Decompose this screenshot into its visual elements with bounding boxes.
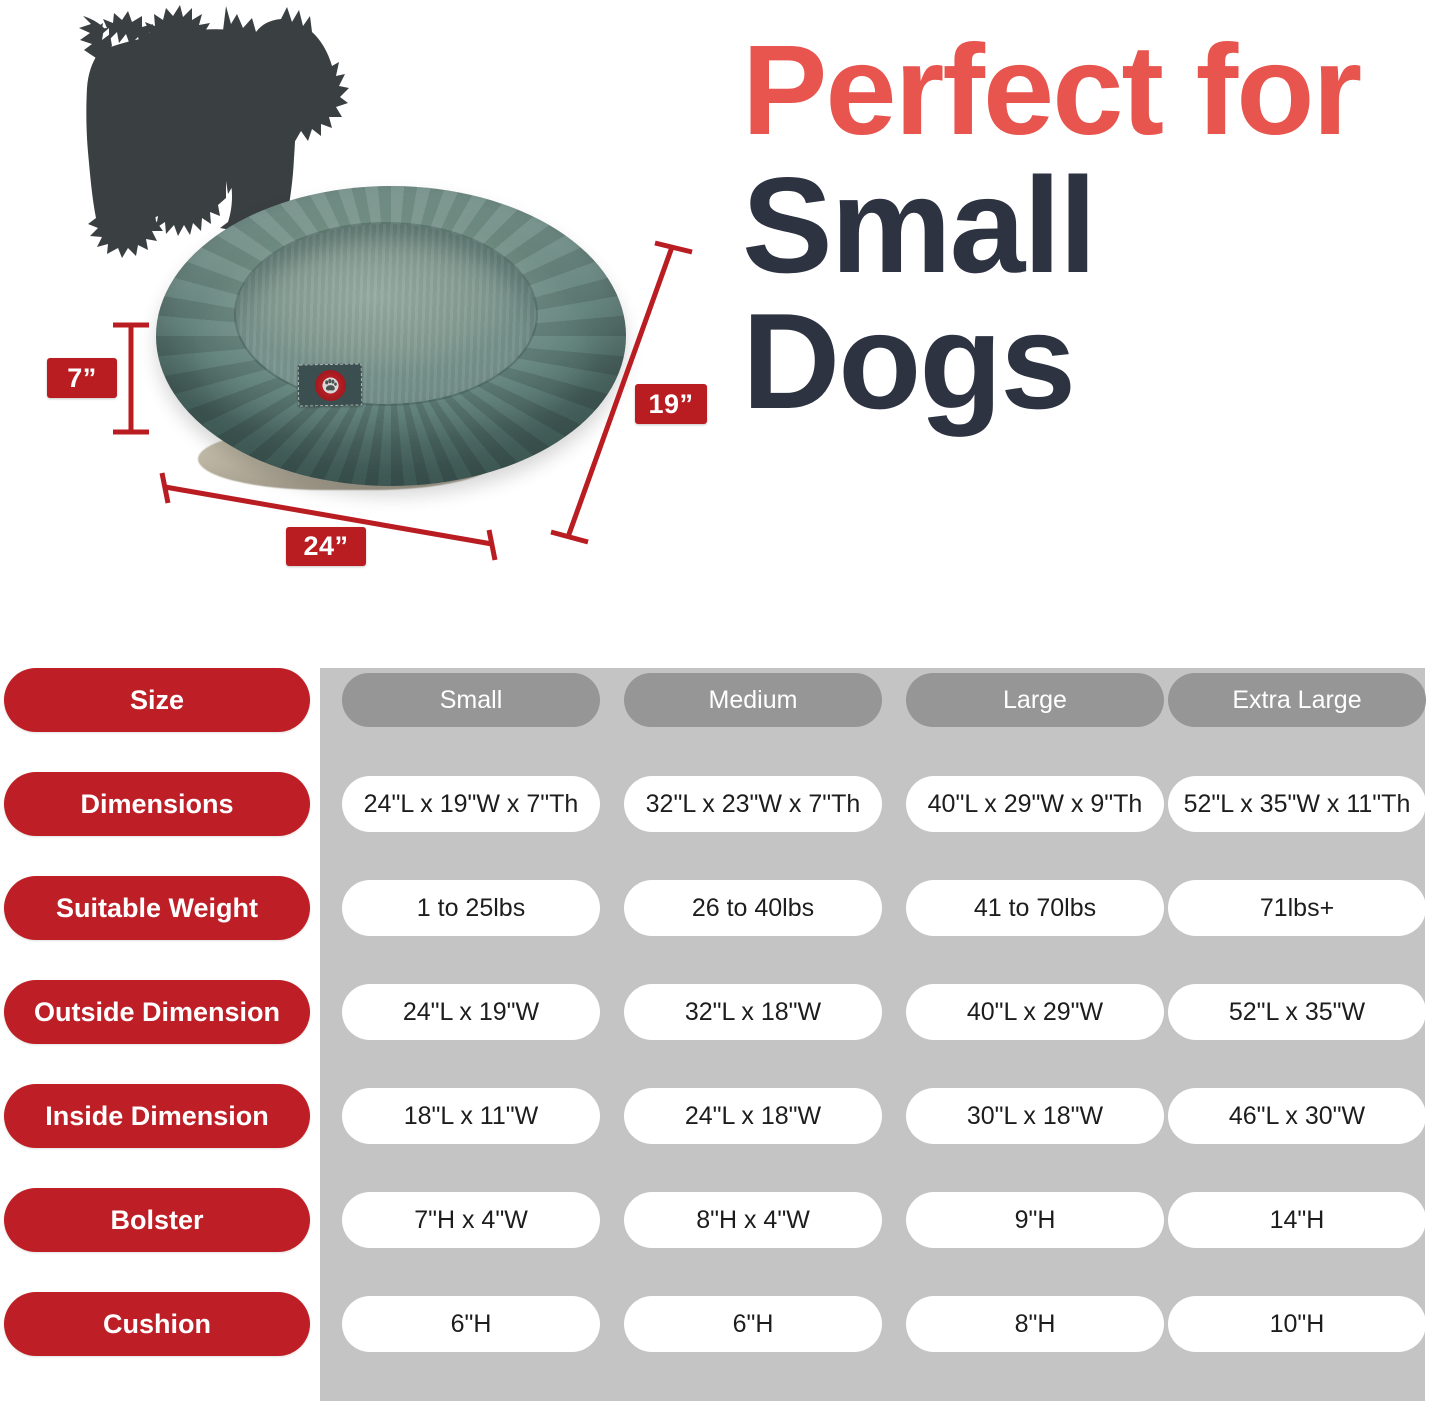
- headline-line-3: Dogs: [742, 295, 1442, 428]
- cell-outside-dimension-large: 40"L x 29"W: [906, 984, 1164, 1040]
- cell-dimensions-medium: 32"L x 23"W x 7"Th: [624, 776, 882, 832]
- row-label-inside-dimension: Inside Dimension: [4, 1084, 310, 1148]
- cell-bolster-small: 7"H x 4"W: [342, 1192, 600, 1248]
- cell-dimensions-small: 24"L x 19"W x 7"Th: [342, 776, 600, 832]
- cell-cushion-medium: 6"H: [624, 1296, 882, 1352]
- cell-cushion-extra-large: 10"H: [1168, 1296, 1426, 1352]
- cell-inside-dimension-large: 30"L x 18"W: [906, 1088, 1164, 1144]
- row-label-bolster: Bolster: [4, 1188, 310, 1252]
- cell-outside-dimension-medium: 32"L x 18"W: [624, 984, 882, 1040]
- cell-bolster-extra-large: 14"H: [1168, 1192, 1426, 1248]
- column-header-small: Small: [342, 673, 600, 727]
- cell-suitable-weight-large: 41 to 70lbs: [906, 880, 1164, 936]
- cell-cushion-large: 8"H: [906, 1296, 1164, 1352]
- row-label-size: Size: [4, 668, 310, 732]
- headline-line-2: Small: [742, 159, 1442, 292]
- dimension-label-width: 19”: [635, 384, 707, 424]
- cell-inside-dimension-extra-large: 46"L x 30"W: [1168, 1088, 1426, 1144]
- row-label-dimensions: Dimensions: [4, 772, 310, 836]
- hero-headline: Perfect for Small Dogs: [742, 28, 1442, 428]
- dimension-label-height: 7”: [47, 358, 117, 398]
- paw-print-icon: [322, 377, 337, 392]
- cell-bolster-large: 9"H: [906, 1192, 1164, 1248]
- dimension-label-length: 24”: [286, 527, 366, 566]
- cell-dimensions-large: 40"L x 29"W x 9"Th: [906, 776, 1164, 832]
- cell-suitable-weight-extra-large: 71lbs+: [1168, 880, 1426, 936]
- row-label-suitable-weight: Suitable Weight: [4, 876, 310, 940]
- cell-cushion-small: 6"H: [342, 1296, 600, 1352]
- brand-tag: [298, 363, 363, 406]
- cell-outside-dimension-extra-large: 52"L x 35"W: [1168, 984, 1426, 1040]
- cell-suitable-weight-medium: 26 to 40lbs: [624, 880, 882, 936]
- cell-suitable-weight-small: 1 to 25lbs: [342, 880, 600, 936]
- row-label-outside-dimension: Outside Dimension: [4, 980, 310, 1044]
- cell-inside-dimension-medium: 24"L x 18"W: [624, 1088, 882, 1144]
- cell-dimensions-extra-large: 52"L x 35"W x 11"Th: [1168, 776, 1426, 832]
- product-photo-dog-bed: [150, 178, 640, 513]
- column-header-large: Large: [906, 673, 1164, 727]
- cell-inside-dimension-small: 18"L x 11"W: [342, 1088, 600, 1144]
- size-chart-table: SmallMediumLargeExtra Large24"L x 19"W x…: [0, 660, 1445, 1401]
- majestic-pet-logo-icon: [314, 369, 346, 401]
- column-header-medium: Medium: [624, 673, 882, 727]
- table-panel-background: SmallMediumLargeExtra Large24"L x 19"W x…: [320, 668, 1425, 1401]
- cell-outside-dimension-small: 24"L x 19"W: [342, 984, 600, 1040]
- column-header-extra-large: Extra Large: [1168, 673, 1426, 727]
- row-label-cushion: Cushion: [4, 1292, 310, 1356]
- table-row-label-column: SizeDimensionsSuitable WeightOutside Dim…: [4, 668, 310, 1401]
- bed-seam: [236, 224, 536, 404]
- headline-line-1: Perfect for: [742, 28, 1442, 153]
- cell-bolster-medium: 8"H x 4"W: [624, 1192, 882, 1248]
- hero-section: 7” 24” 19” Perfect for Small Dogs: [0, 0, 1445, 660]
